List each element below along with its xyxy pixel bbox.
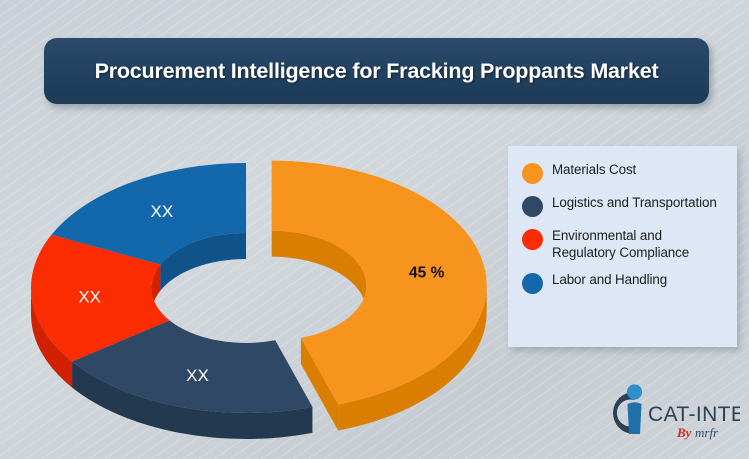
page-title: Procurement Intelligence for Fracking Pr… [95,59,659,84]
infographic-canvas: Procurement Intelligence for Fracking Pr… [0,0,749,459]
donut-segment-label: XX [186,366,209,385]
legend-list: Materials CostLogistics and Transportati… [522,162,729,294]
legend-item-label: Materials Cost [552,162,636,179]
legend-swatch-icon [522,229,543,250]
legend-swatch-icon [522,196,543,217]
legend-panel: Materials CostLogistics and Transportati… [508,146,737,347]
legend-item[interactable]: Materials Cost [522,162,729,184]
donut-segment-label: XX [151,202,174,221]
donut-segment-label: XX [78,288,101,307]
legend-item-label: Environmental and Regulatory Compliance [552,228,729,261]
cat-intel-logo-svg: CAT-INTEL By mrfr [604,382,740,442]
legend-item[interactable]: Logistics and Transportation [522,195,729,217]
donut-chart: 45 %XXXXXX [6,128,506,458]
legend-item-label: Labor and Handling [552,272,667,289]
legend-swatch-icon [522,163,543,184]
logo-wordmark: CAT-INTEL [648,403,740,426]
legend-item[interactable]: Environmental and Regulatory Compliance [522,228,729,261]
legend-item[interactable]: Labor and Handling [522,272,729,294]
logo-person-head-icon [627,384,642,399]
logo-person-body-icon [628,402,642,434]
donut-chart-svg: 45 %XXXXXX [6,128,506,458]
logo-byline-by: By [676,425,692,440]
title-banner: Procurement Intelligence for Fracking Pr… [44,38,709,104]
legend-swatch-icon [522,273,543,294]
logo-byline-mrfr: mrfr [695,425,719,440]
cat-intel-logo: CAT-INTEL By mrfr [604,382,740,442]
donut-major-label: 45 % [409,264,445,281]
legend-item-label: Logistics and Transportation [552,195,717,212]
